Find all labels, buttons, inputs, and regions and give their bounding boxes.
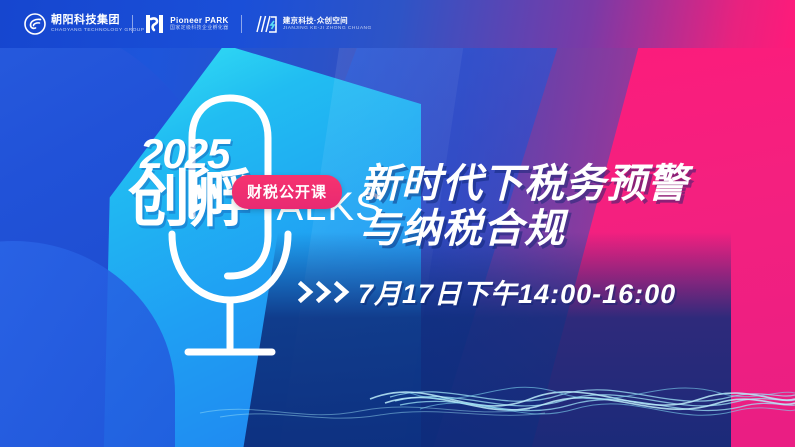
- chaoyang-swirl-logo-icon: [24, 13, 46, 35]
- event-datetime-row: 7月17日下午14:00-16:00: [298, 272, 676, 311]
- logo-chuangke-text: 建京科技·众创空间 JIANJING KE-JI ZHONG CHUANG: [283, 17, 349, 31]
- event-datetime-text: 7月17日下午14:00-16:00: [358, 272, 676, 311]
- course-type-badge: 财税公开课: [232, 175, 342, 209]
- headline-line-2: 与纳税合规: [360, 207, 688, 252]
- logo-chuangke-name-en: JIANJING KE-JI ZHONG CHUANG: [283, 27, 372, 32]
- chuangke-space-logo-icon: [254, 13, 278, 35]
- logo-group: 朝阳科技集团 CHAOYANG TECHNOLOGY GROUP Pioneer…: [24, 13, 348, 35]
- logo-chaoyang-name-cn: 朝阳科技集团: [51, 15, 120, 26]
- partner-logo-bar: 朝阳科技集团 CHAOYANG TECHNOLOGY GROUP Pioneer…: [0, 0, 795, 48]
- logo-chaoyang-name-en: CHAOYANG TECHNOLOGY GROUP: [51, 28, 145, 33]
- logo-pioneer-name-cn: 国家定级科技企业孵化器: [170, 27, 249, 32]
- event-poster-banner: 朝阳科技集团 CHAOYANG TECHNOLOGY GROUP Pioneer…: [0, 0, 795, 447]
- logo-pioneer-name-en: Pioneer PARK: [170, 17, 228, 25]
- background-navy-panel: [239, 232, 732, 447]
- chevron-right-icon: [298, 280, 314, 304]
- headline-line-1: 新时代下税务预警: [360, 162, 688, 207]
- logo-pioneer-text: Pioneer PARK 国家定级科技企业孵化器: [170, 17, 228, 31]
- logo-chaoyang[interactable]: 朝阳科技集团 CHAOYANG TECHNOLOGY GROUP: [24, 13, 120, 35]
- headline-block: 新时代下税务预警 与纳税合规: [360, 162, 688, 252]
- logo-pioneer-park[interactable]: Pioneer PARK 国家定级科技企业孵化器: [145, 13, 228, 35]
- chevron-right-icon: [316, 280, 332, 304]
- chevron-right-icon-group: [298, 280, 350, 304]
- brand-name-cn: 创孵: [128, 171, 248, 230]
- logo-chaoyang-text: 朝阳科技集团 CHAOYANG TECHNOLOGY GROUP: [51, 15, 120, 32]
- chevron-right-icon: [334, 280, 350, 304]
- pioneer-park-logo-icon: [145, 13, 165, 35]
- logo-chuangke-name-cn: 建京科技·众创空间: [283, 17, 349, 25]
- logo-chuangke-space[interactable]: 建京科技·众创空间 JIANJING KE-JI ZHONG CHUANG: [254, 13, 349, 35]
